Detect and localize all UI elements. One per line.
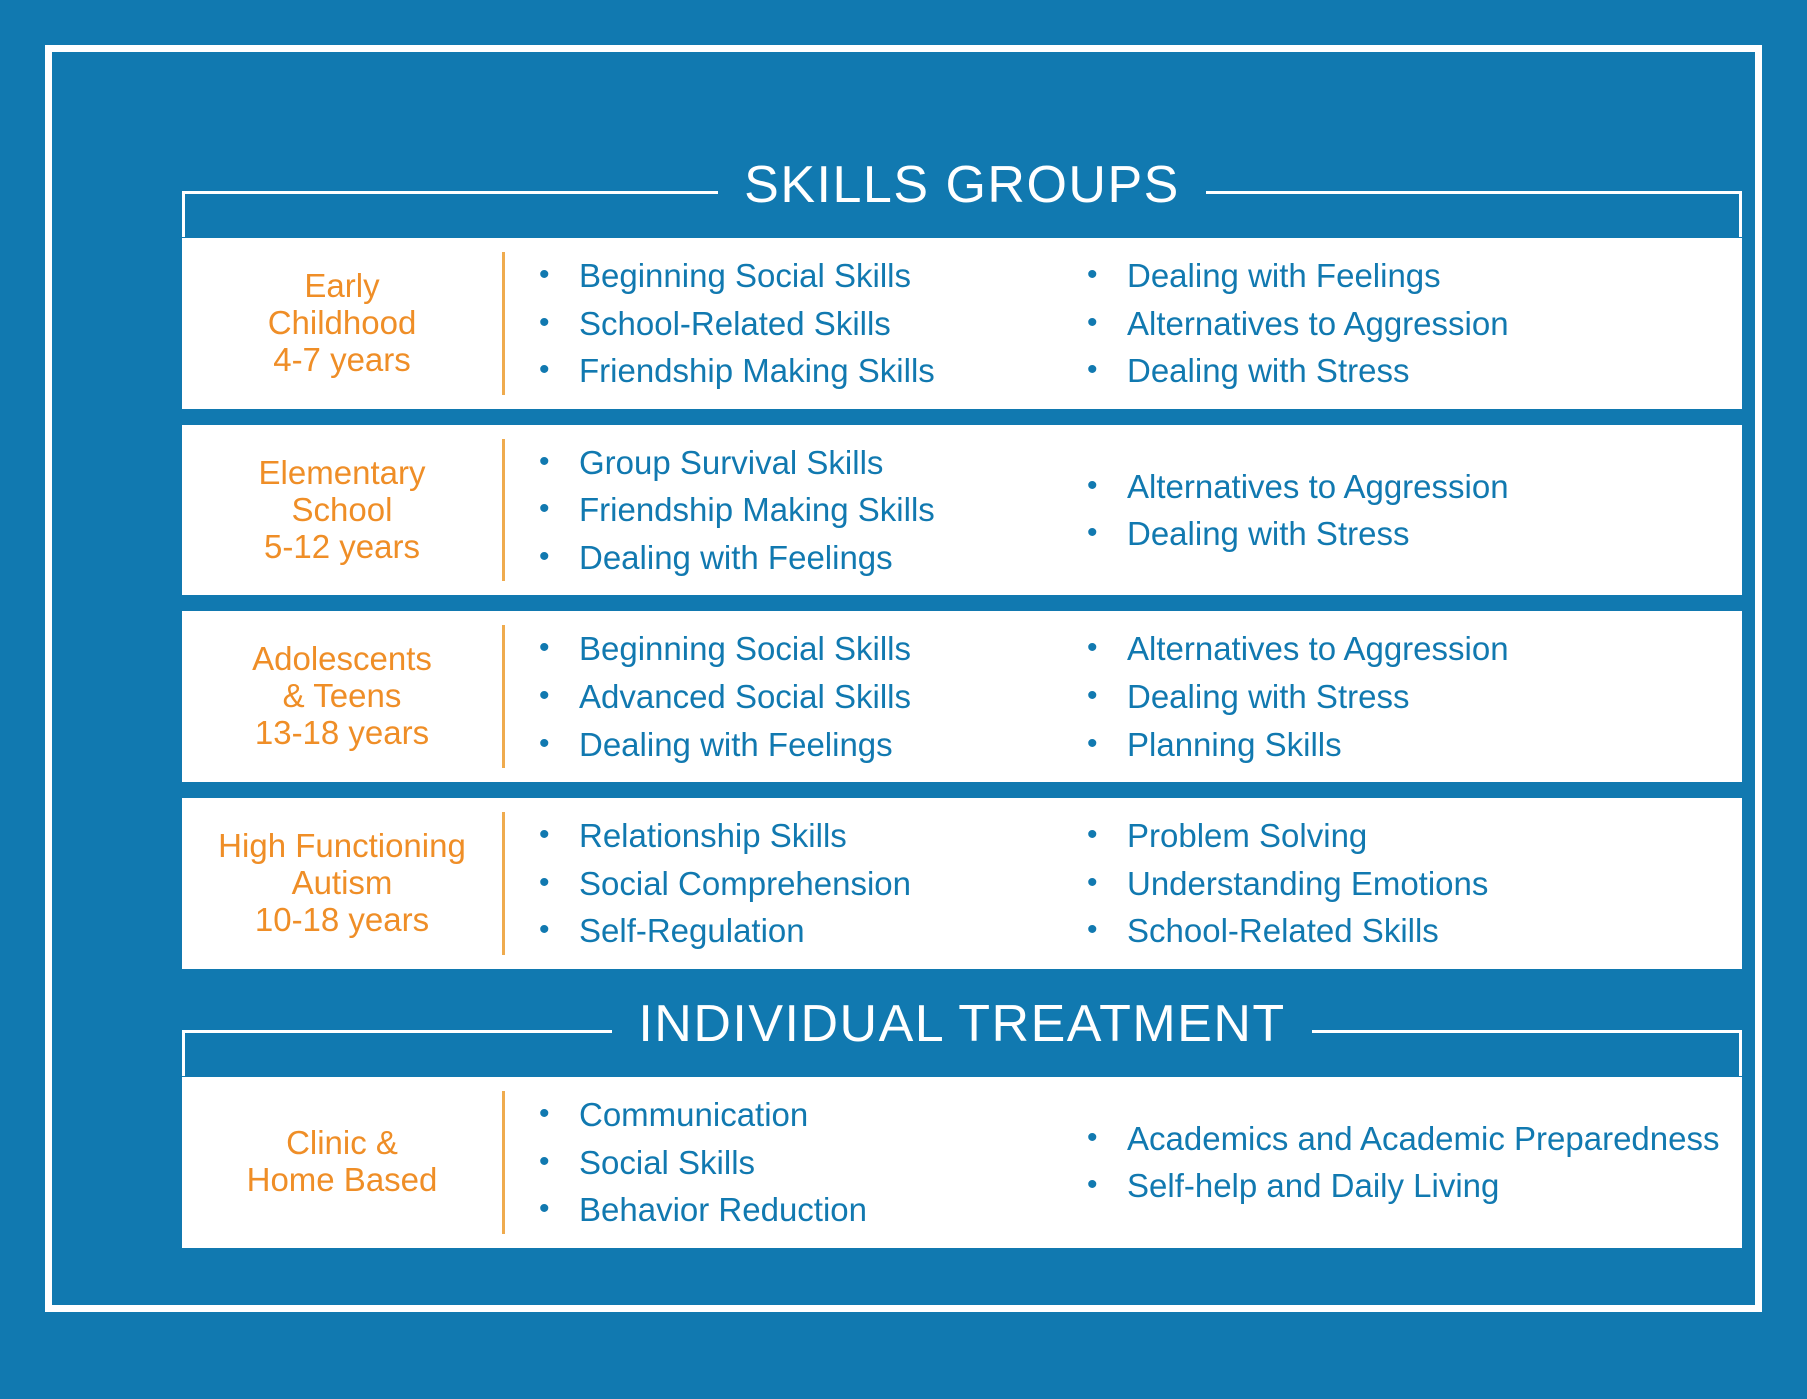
row-label-line: 5-12 years xyxy=(264,529,420,566)
content-area: SKILLS GROUPS Early Childhood 4-7 years … xyxy=(182,152,1742,1292)
list-item: • Planning Skills xyxy=(1087,721,1728,769)
bullet-column-left: • Group Survival Skills • Friendship Mak… xyxy=(505,439,1045,582)
list-item: • Understanding Emotions xyxy=(1087,860,1728,908)
list-item: • Relationship Skills xyxy=(539,812,1045,860)
bullet-icon: • xyxy=(1087,255,1127,295)
list-item-label: Relationship Skills xyxy=(579,815,1045,857)
table-row: Clinic & Home Based • Communication • So… xyxy=(182,1077,1742,1248)
list-item: • Social Comprehension xyxy=(539,860,1045,908)
list-item-label: Dealing with Feelings xyxy=(579,724,1045,766)
list-item-label: Dealing with Stress xyxy=(1127,513,1728,555)
row-content: • Beginning Social Skills • Advanced Soc… xyxy=(505,611,1742,782)
list-item-label: Behavior Reduction xyxy=(579,1189,1045,1231)
list-item-label: Communication xyxy=(579,1094,1045,1136)
bullet-icon: • xyxy=(539,815,579,855)
list-item-label: Understanding Emotions xyxy=(1127,863,1728,905)
bullet-icon: • xyxy=(1087,466,1127,506)
bullet-icon: • xyxy=(1087,910,1127,950)
bullet-icon: • xyxy=(539,255,579,295)
row-label-high-functioning-autism: High Functioning Autism 10-18 years xyxy=(182,798,502,969)
bullet-column-right: • Alternatives to Aggression • Dealing w… xyxy=(1045,439,1742,582)
table-row: Elementary School 5-12 years • Group Sur… xyxy=(182,425,1742,596)
list-item: • Beginning Social Skills xyxy=(539,625,1045,673)
list-item: • Self-Regulation xyxy=(539,907,1045,955)
list-item: • Self-help and Daily Living xyxy=(1087,1162,1728,1210)
list-item-label: Beginning Social Skills xyxy=(579,255,1045,297)
list-item-label: Social Skills xyxy=(579,1142,1045,1184)
bullet-icon: • xyxy=(1087,628,1127,668)
list-item-label: Alternatives to Aggression xyxy=(1127,628,1728,670)
bullet-icon: • xyxy=(539,489,579,529)
list-item: • Dealing with Feelings xyxy=(1087,252,1728,300)
list-item-label: Advanced Social Skills xyxy=(579,676,1045,718)
bullet-icon: • xyxy=(1087,513,1127,553)
row-content: • Beginning Social Skills • School-Relat… xyxy=(505,238,1742,409)
bullet-icon: • xyxy=(539,442,579,482)
bullet-icon: • xyxy=(539,724,579,764)
list-item: • Dealing with Stress xyxy=(1087,347,1728,395)
bullet-icon: • xyxy=(1087,863,1127,903)
row-label-line: Home Based xyxy=(247,1162,438,1199)
bullet-icon: • xyxy=(1087,303,1127,343)
bullet-icon: • xyxy=(539,628,579,668)
bullet-column-right: • Academics and Academic Preparedness • … xyxy=(1045,1091,1742,1234)
bullet-icon: • xyxy=(539,537,579,577)
bullet-icon: • xyxy=(1087,724,1127,764)
row-label-line: 4-7 years xyxy=(273,342,411,379)
list-item-label: Alternatives to Aggression xyxy=(1127,466,1728,508)
list-item-label: Friendship Making Skills xyxy=(579,350,1045,392)
bullet-icon: • xyxy=(1087,350,1127,390)
bullet-icon: • xyxy=(539,1094,579,1134)
list-item-label: Group Survival Skills xyxy=(579,442,1045,484)
list-item-label: Problem Solving xyxy=(1127,815,1728,857)
infographic-poster: SKILLS GROUPS Early Childhood 4-7 years … xyxy=(0,0,1807,1399)
header-rule-left xyxy=(182,1007,612,1053)
list-item-label: Friendship Making Skills xyxy=(579,489,1045,531)
header-rule-left xyxy=(182,168,718,214)
list-item: • Advanced Social Skills xyxy=(539,673,1045,721)
bullet-icon: • xyxy=(539,1142,579,1182)
section-header-individual-treatment: INDIVIDUAL TREATMENT xyxy=(182,991,1742,1069)
list-item-label: School-Related Skills xyxy=(579,303,1045,345)
bullet-column-right: • Alternatives to Aggression • Dealing w… xyxy=(1045,625,1742,768)
list-item: • School-Related Skills xyxy=(1087,907,1728,955)
row-label-line: Early xyxy=(304,268,379,305)
list-item-label: Self-help and Daily Living xyxy=(1127,1165,1728,1207)
bullet-icon: • xyxy=(539,676,579,716)
bullet-icon: • xyxy=(1087,1165,1127,1205)
bullet-icon: • xyxy=(539,350,579,390)
section-title-skills-groups: SKILLS GROUPS xyxy=(718,159,1206,211)
list-item: • Dealing with Stress xyxy=(1087,510,1728,558)
row-label-line: Childhood xyxy=(268,305,417,342)
list-item-label: Beginning Social Skills xyxy=(579,628,1045,670)
list-item-label: Dealing with Stress xyxy=(1127,676,1728,718)
row-label-clinic-home-based: Clinic & Home Based xyxy=(182,1077,502,1248)
table-row: Early Childhood 4-7 years • Beginning So… xyxy=(182,238,1742,409)
bullet-column-left: • Communication • Social Skills • Behavi… xyxy=(505,1091,1045,1234)
row-label-line: Autism xyxy=(292,865,393,902)
list-item: • Dealing with Feelings xyxy=(539,721,1045,769)
row-label-elementary-school: Elementary School 5-12 years xyxy=(182,425,502,596)
list-item: • Alternatives to Aggression xyxy=(1087,463,1728,511)
bullet-column-right: • Problem Solving • Understanding Emotio… xyxy=(1045,812,1742,955)
outer-white-frame: SKILLS GROUPS Early Childhood 4-7 years … xyxy=(45,45,1762,1312)
list-item: • Dealing with Feelings xyxy=(539,534,1045,582)
row-label-early-childhood: Early Childhood 4-7 years xyxy=(182,238,502,409)
table-row: Adolescents & Teens 13-18 years • Beginn… xyxy=(182,611,1742,782)
bullet-icon: • xyxy=(1087,676,1127,716)
list-item: • School-Related Skills xyxy=(539,300,1045,348)
row-content: • Group Survival Skills • Friendship Mak… xyxy=(505,425,1742,596)
list-item: • Friendship Making Skills xyxy=(539,347,1045,395)
list-item-label: Social Comprehension xyxy=(579,863,1045,905)
section-header-skills-groups: SKILLS GROUPS xyxy=(182,152,1742,230)
list-item-label: Self-Regulation xyxy=(579,910,1045,952)
table-row: High Functioning Autism 10-18 years • Re… xyxy=(182,798,1742,969)
list-item: • Beginning Social Skills xyxy=(539,252,1045,300)
bullet-icon: • xyxy=(539,910,579,950)
bullet-icon: • xyxy=(539,863,579,903)
row-label-line: Adolescents xyxy=(252,641,432,678)
row-label-line: 13-18 years xyxy=(255,715,429,752)
list-item-label: School-Related Skills xyxy=(1127,910,1728,952)
list-item-label: Planning Skills xyxy=(1127,724,1728,766)
list-item: • Alternatives to Aggression xyxy=(1087,300,1728,348)
list-item-label: Dealing with Feelings xyxy=(579,537,1045,579)
bullet-column-left: • Relationship Skills • Social Comprehen… xyxy=(505,812,1045,955)
bullet-icon: • xyxy=(1087,1118,1127,1158)
bullet-icon: • xyxy=(1087,815,1127,855)
list-item-label: Dealing with Feelings xyxy=(1127,255,1728,297)
list-item: • Friendship Making Skills xyxy=(539,486,1045,534)
row-label-line: Clinic & xyxy=(286,1125,398,1162)
bullet-icon: • xyxy=(539,1189,579,1229)
bullet-column-left: • Beginning Social Skills • School-Relat… xyxy=(505,252,1045,395)
row-content: • Communication • Social Skills • Behavi… xyxy=(505,1077,1742,1248)
list-item-label: Dealing with Stress xyxy=(1127,350,1728,392)
list-item: • Dealing with Stress xyxy=(1087,673,1728,721)
row-label-line: Elementary xyxy=(259,455,426,492)
list-item: • Group Survival Skills xyxy=(539,439,1045,487)
row-content: • Relationship Skills • Social Comprehen… xyxy=(505,798,1742,969)
row-label-line: High Functioning xyxy=(218,828,466,865)
row-label-adolescents-teens: Adolescents & Teens 13-18 years xyxy=(182,611,502,782)
list-item: • Alternatives to Aggression xyxy=(1087,625,1728,673)
list-item: • Problem Solving xyxy=(1087,812,1728,860)
list-item: • Academics and Academic Preparedness xyxy=(1087,1115,1728,1163)
list-item: • Behavior Reduction xyxy=(539,1186,1045,1234)
header-rule-right xyxy=(1206,168,1742,214)
bullet-icon: • xyxy=(539,303,579,343)
list-item-label: Alternatives to Aggression xyxy=(1127,303,1728,345)
bullet-column-left: • Beginning Social Skills • Advanced Soc… xyxy=(505,625,1045,768)
list-item: • Social Skills xyxy=(539,1139,1045,1187)
list-item-label: Academics and Academic Preparedness xyxy=(1127,1118,1728,1160)
row-label-line: School xyxy=(292,492,393,529)
list-item: • Communication xyxy=(539,1091,1045,1139)
section-title-individual-treatment: INDIVIDUAL TREATMENT xyxy=(612,998,1311,1050)
row-label-line: & Teens xyxy=(283,678,402,715)
bullet-column-right: • Dealing with Feelings • Alternatives t… xyxy=(1045,252,1742,395)
row-label-line: 10-18 years xyxy=(255,902,429,939)
header-rule-right xyxy=(1312,1007,1742,1053)
